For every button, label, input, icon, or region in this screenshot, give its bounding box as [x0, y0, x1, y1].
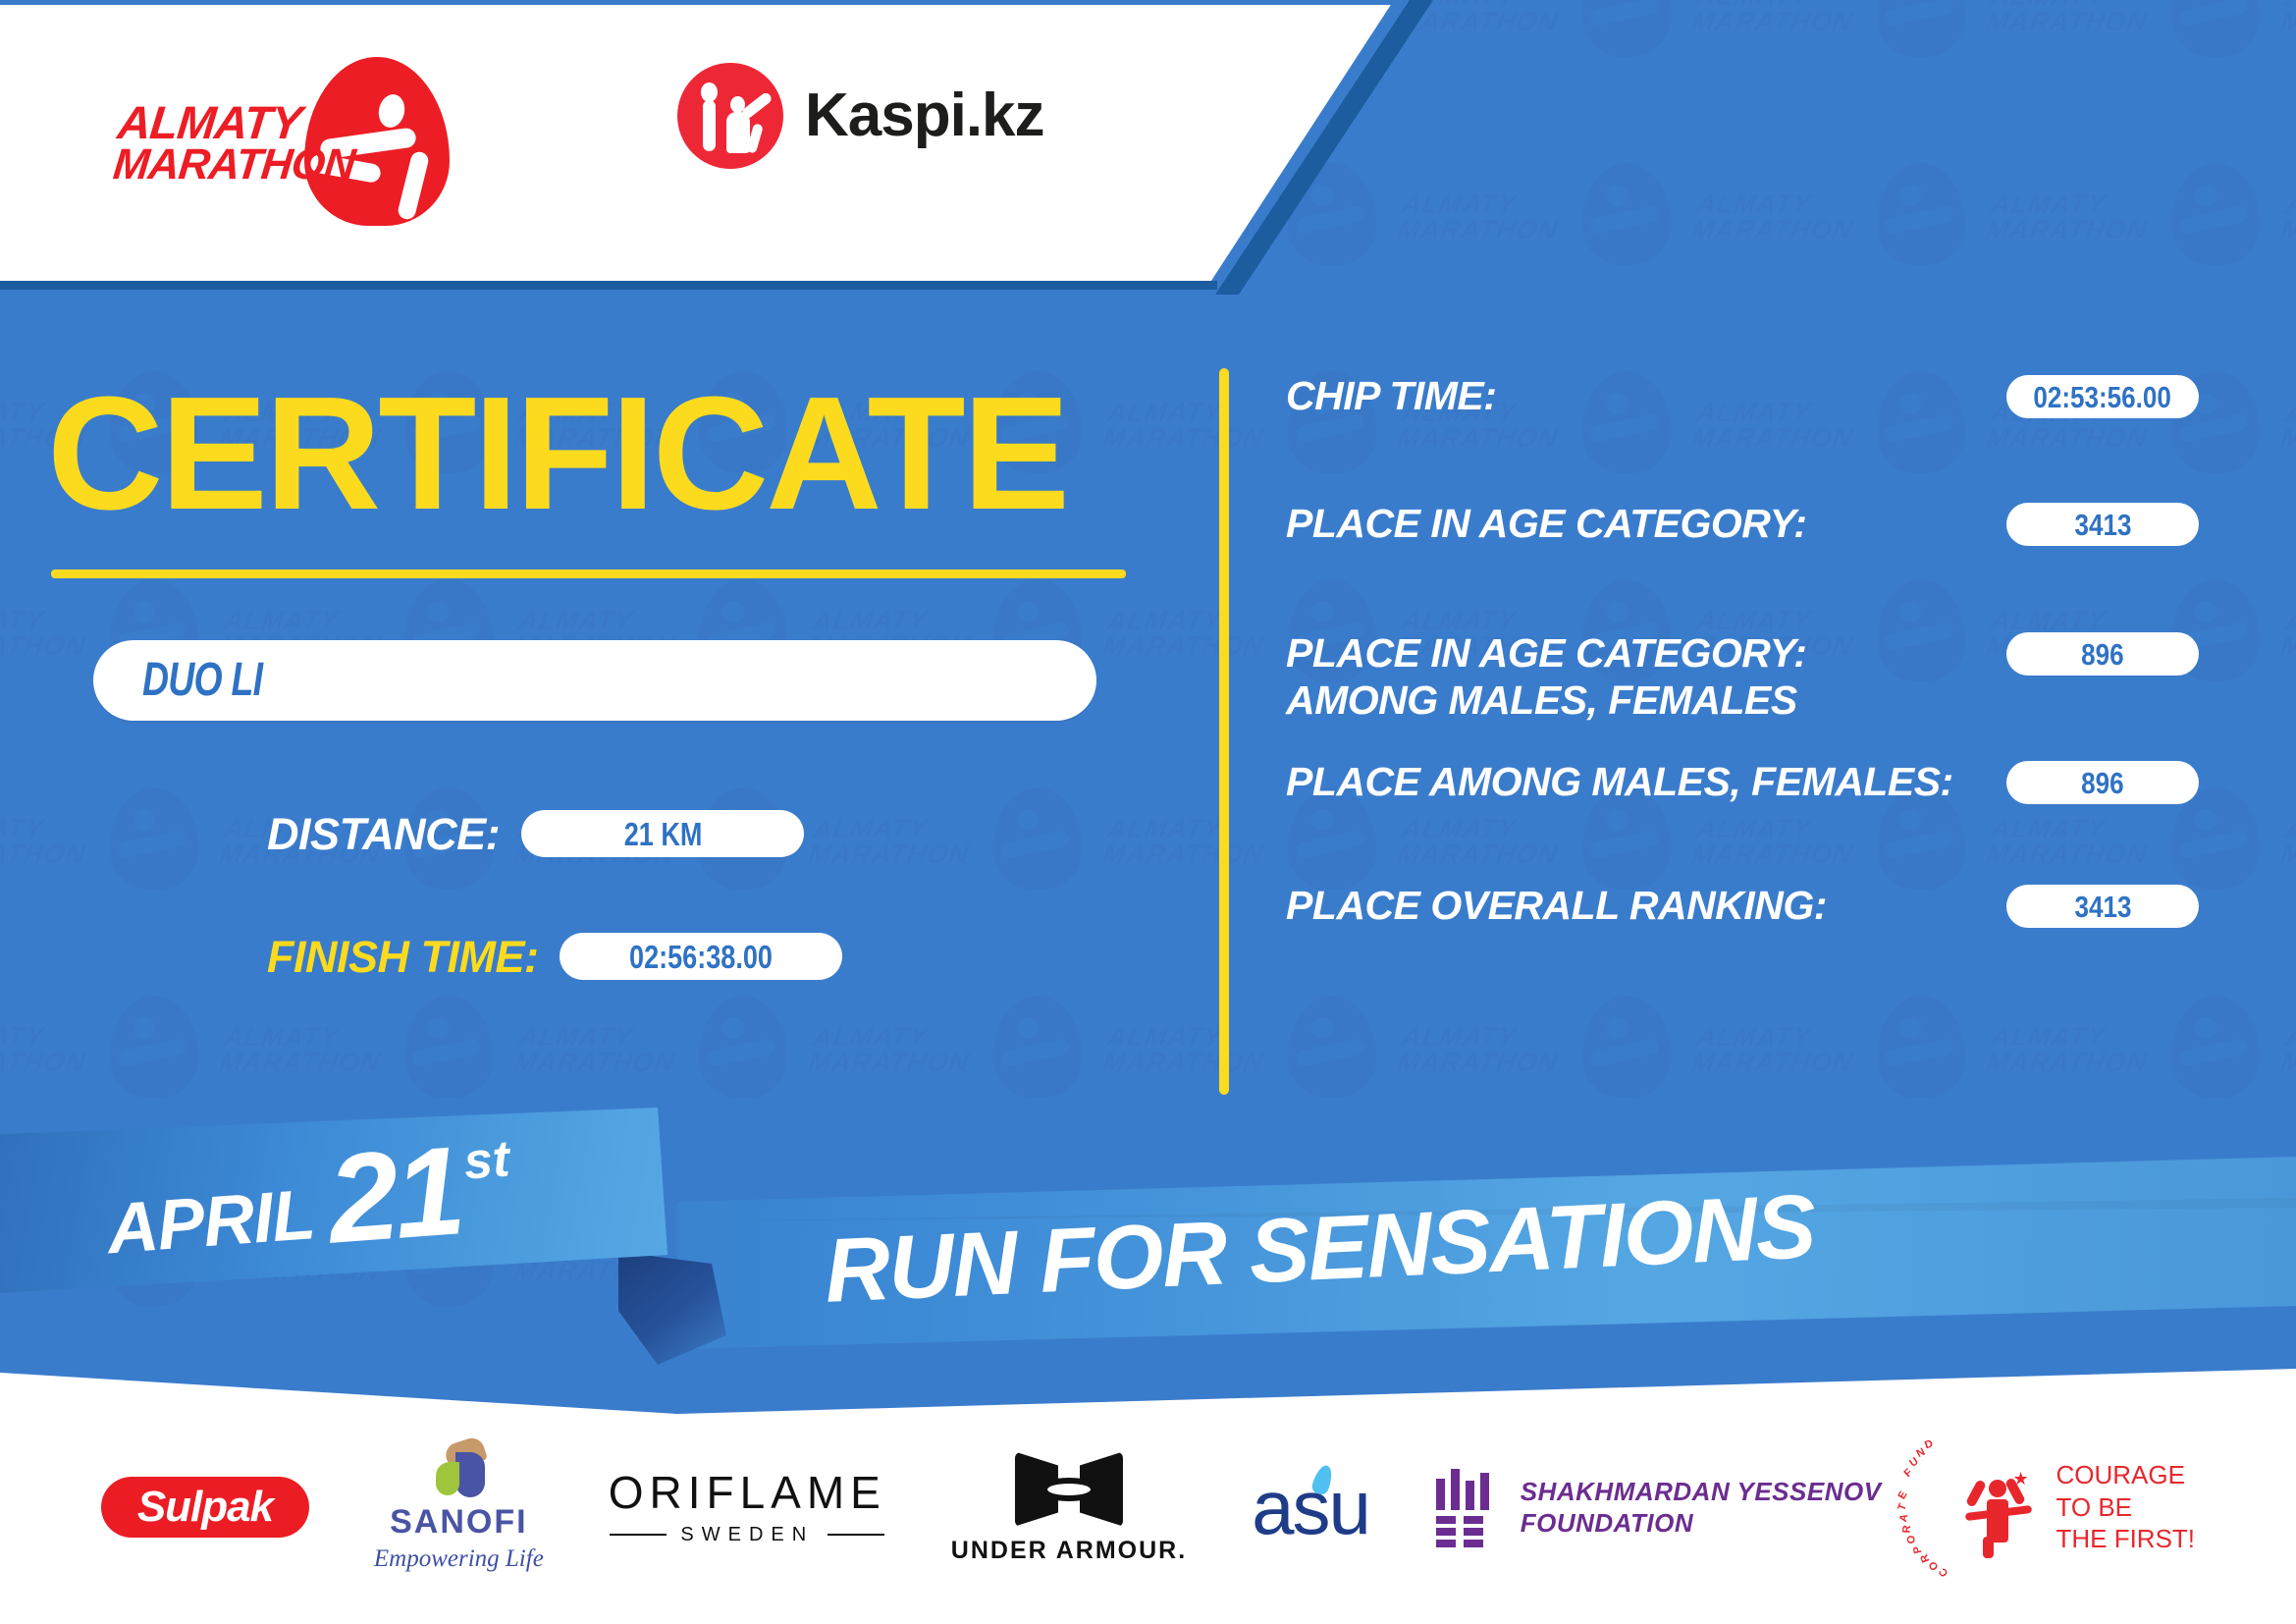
watermark-tile: ALMATYMARATHON: [2277, 774, 2296, 982]
header-top-stripe: [0, 0, 1394, 5]
watermark-text: ALMATYMARATHON: [1689, 192, 1859, 243]
result-row-place-among-males-females: PLACE AMONG MALES, FEMALES: 896: [1286, 759, 2199, 820]
watermark-text: ALMATYMARATHON: [1689, 0, 1859, 34]
watermark-runner-icon: [1877, 163, 1965, 265]
watermark-runner-icon: [404, 996, 493, 1098]
sulpak-logo: Sulpak: [101, 1477, 309, 1538]
page-title: CERTIFICATE: [47, 373, 1067, 534]
result-row-place-age-category-among: PLACE IN AGE CATEGORY: AMONG MALES, FEMA…: [1286, 630, 2199, 724]
event-day-suffix: st: [462, 1133, 511, 1187]
almaty-marathon-wordmark: ALMATY MARATHON: [111, 100, 316, 186]
yessenov-line-2: FOUNDATION: [1521, 1507, 1882, 1540]
result-value-pill: 896: [2006, 761, 2199, 804]
under-armour-wordmark: UNDER ARMOUR.: [951, 1539, 1187, 1563]
result-row-place-age-category: PLACE IN AGE CATEGORY: 3413: [1286, 501, 2199, 562]
watermark-runner-icon: [110, 996, 198, 1098]
watermark-runner-icon: [1582, 163, 1671, 265]
finish-time-row: FINISH TIME: 02:56:38.00: [267, 933, 842, 980]
title-underline: [51, 569, 1126, 578]
almaty-marathon-logo: ALMATY MARATHON: [116, 57, 450, 194]
courage-line-2: TO BE: [2056, 1491, 2195, 1524]
event-day: 21: [325, 1138, 464, 1254]
courage-line-3: THE FIRST!: [2056, 1523, 2195, 1555]
watermark-text: ALMATYMARATHON: [1100, 817, 1270, 867]
watermark-runner-icon: [1288, 996, 1376, 1098]
logo-line-1: ALMATY: [116, 100, 317, 144]
distance-value: 21 KM: [623, 818, 702, 850]
result-value-pill: 3413: [2006, 885, 2199, 928]
watermark-text: ALMATYMARATHON: [1689, 1025, 1859, 1075]
watermark-text: ALMATYMARATHON: [1395, 192, 1565, 243]
result-row-place-overall-ranking: PLACE OVERALL RANKING: 3413: [1286, 883, 2199, 944]
watermark-tile: ALMATYMARATHON: [1394, 149, 1688, 357]
watermark-runner-icon: [1582, 0, 1671, 57]
asu-text: asu: [1252, 1464, 1369, 1550]
result-label: PLACE OVERALL RANKING:: [1286, 883, 1827, 930]
sponsor-oriflame: ORIFLAME SWEDEN: [609, 1470, 886, 1544]
sponsor-sanofi: SANOFI Empowering Life: [374, 1440, 544, 1574]
watermark-runner-icon: [1877, 0, 1965, 57]
sponsor-courage-fund: CORPORATE FUND ★ COURAGE TO BE THE FIRST…: [1946, 1459, 2195, 1555]
watermark-text: ALMATYMARATHON: [1984, 192, 2154, 243]
watermark-text: ALMATYMARATHON: [2278, 1025, 2296, 1075]
sponsor-yessenov: SHAKHMARDAN YESSENOV FOUNDATION: [1434, 1467, 1882, 1547]
result-value: 02:53:56.00: [2034, 382, 2171, 412]
sponsor-sulpak: Sulpak: [101, 1477, 309, 1538]
watermark-text: ALMATYMARATHON: [806, 1025, 976, 1075]
kaspi-people-circle-icon: [677, 63, 783, 169]
watermark-tile: ALMATYMARATHON: [1688, 0, 1983, 149]
watermark-runner-icon: [1877, 996, 1965, 1098]
courage-wordmark: COURAGE TO BE THE FIRST!: [2056, 1459, 2195, 1555]
watermark-text: ALMATYMARATHON: [0, 1025, 92, 1075]
result-value-pill: 02:53:56.00: [2006, 375, 2199, 418]
results-column: CHIP TIME: 02:53:56.00 PLACE IN AGE CATE…: [1286, 373, 2199, 977]
sponsor-under-armour: UNDER ARMOUR.: [951, 1452, 1187, 1563]
watermark-text: ALMATYMARATHON: [2278, 0, 2296, 34]
runner-name-field: DUO LI: [93, 640, 1096, 721]
result-row-chip-time: CHIP TIME: 02:53:56.00: [1286, 373, 2199, 434]
under-armour-icon: [1015, 1452, 1123, 1527]
watermark-runner-icon: [2171, 0, 2260, 57]
watermark-text: ALMATYMARATHON: [806, 817, 976, 867]
runner-name-value: DUO LI: [142, 657, 262, 704]
event-month: APRIL: [105, 1179, 317, 1265]
sanofi-mark-icon: [422, 1440, 495, 1499]
event-ribbon: APRIL 21 st RUN FOR SENSATIONS: [0, 1090, 2296, 1414]
sponsor-asu: asu: [1252, 1469, 1369, 1545]
distance-row: DISTANCE: 21 KM: [267, 810, 804, 857]
kaspi-wordmark: Kaspi.kz: [805, 85, 1044, 146]
sanofi-tagline: Empowering Life: [374, 1544, 544, 1574]
watermark-runner-icon: [110, 787, 198, 890]
kaspi-logo: Kaspi.kz: [677, 57, 1044, 175]
watermark-text: ALMATYMARATHON: [2278, 817, 2296, 867]
column-divider: [1219, 368, 1229, 1095]
oriflame-sub: SWEDEN: [609, 1525, 886, 1544]
courage-runner-icon: CORPORATE FUND ★: [1946, 1460, 2040, 1554]
runner-leg-icon: [397, 150, 430, 221]
watermark-tile: ALMATYMARATHON: [2277, 566, 2296, 774]
watermark-text: ALMATYMARATHON: [1984, 1025, 2154, 1075]
watermark-tile: ALMATYMARATHON: [1983, 149, 2277, 357]
watermark-tile: ALMATYMARATHON: [1394, 0, 1688, 149]
header-bottom-stripe: [0, 281, 1217, 290]
watermark-text: ALMATYMARATHON: [1100, 401, 1270, 451]
watermark-text: ALMATYMARATHON: [1395, 1025, 1565, 1075]
finish-time-value: 02:56:38.00: [630, 941, 774, 973]
result-label: CHIP TIME:: [1286, 373, 1496, 420]
watermark-runner-icon: [993, 996, 1082, 1098]
result-value: 3413: [2074, 510, 2131, 540]
yessenov-bars-icon: [1434, 1467, 1495, 1547]
watermark-text: ALMATYMARATHON: [217, 1025, 387, 1075]
runner-head-icon: [376, 92, 408, 131]
watermark-tile: ALMATYMARATHON: [0, 774, 216, 982]
watermark-text: ALMATYMARATHON: [0, 817, 92, 867]
watermark-runner-icon: [2171, 163, 2260, 265]
result-label: PLACE IN AGE CATEGORY: AMONG MALES, FEMA…: [1286, 630, 1953, 724]
watermark-text: ALMATYMARATHON: [2278, 192, 2296, 243]
watermark-text: ALMATYMARATHON: [2278, 401, 2296, 451]
watermark-text: ALMATYMARATHON: [1100, 1025, 1270, 1075]
distance-label: DISTANCE:: [267, 812, 500, 856]
watermark-runner-icon: [1582, 996, 1671, 1098]
watermark-text: ALMATYMARATHON: [1100, 609, 1270, 659]
yessenov-wordmark: SHAKHMARDAN YESSENOV FOUNDATION: [1521, 1476, 1882, 1540]
watermark-tile: ALMATYMARATHON: [1983, 0, 2277, 149]
result-value-pill: 896: [2006, 632, 2199, 676]
oriflame-wordmark: ORIFLAME: [609, 1470, 886, 1515]
watermark-text: ALMATYMARATHON: [2278, 609, 2296, 659]
oriflame-rule-left: [610, 1534, 667, 1536]
result-label: PLACE IN AGE CATEGORY:: [1286, 501, 1806, 548]
result-value: 896: [2081, 639, 2123, 670]
watermark-tile: ALMATYMARATHON: [2277, 149, 2296, 357]
yessenov-line-1: SHAKHMARDAN YESSENOV: [1521, 1476, 1882, 1508]
finish-time-label: FINISH TIME:: [267, 935, 538, 979]
distance-value-pill: 21 KM: [521, 810, 804, 857]
result-label: PLACE AMONG MALES, FEMALES:: [1286, 759, 1953, 806]
sponsor-row: Sulpak SANOFI Empowering Life ORIFLAME S…: [0, 1414, 2296, 1600]
finish-time-value-pill: 02:56:38.00: [560, 933, 842, 980]
watermark-runner-icon: [2171, 996, 2260, 1098]
logo-line-2: MARATHON: [111, 144, 311, 186]
watermark-text: ALMATYMARATHON: [0, 609, 92, 659]
watermark-tile: ALMATYMARATHON: [2277, 0, 2296, 149]
oriflame-rule-right: [828, 1534, 884, 1536]
watermark-runner-icon: [993, 787, 1082, 890]
result-value-pill: 3413: [2006, 503, 2199, 546]
watermark-text: ALMATYMARATHON: [1984, 0, 2154, 34]
watermark-tile: ALMATYMARATHON: [2277, 357, 2296, 566]
certificate-page: ALMATYMARATHONALMATYMARATHONALMATYMARATH…: [0, 0, 2296, 1624]
sanofi-wordmark: SANOFI: [390, 1505, 527, 1539]
watermark-tile: ALMATYMARATHON: [1688, 149, 1983, 357]
watermark-runner-icon: [699, 996, 787, 1098]
asu-wordmark: asu: [1252, 1469, 1369, 1545]
watermark-text: ALMATYMARATHON: [511, 1025, 681, 1075]
courage-line-1: COURAGE: [2056, 1459, 2195, 1491]
result-value: 3413: [2074, 892, 2131, 922]
result-value: 896: [2081, 768, 2123, 798]
oriflame-tagline: SWEDEN: [680, 1525, 814, 1544]
watermark-tile: ALMATYMARATHON: [805, 774, 1099, 982]
